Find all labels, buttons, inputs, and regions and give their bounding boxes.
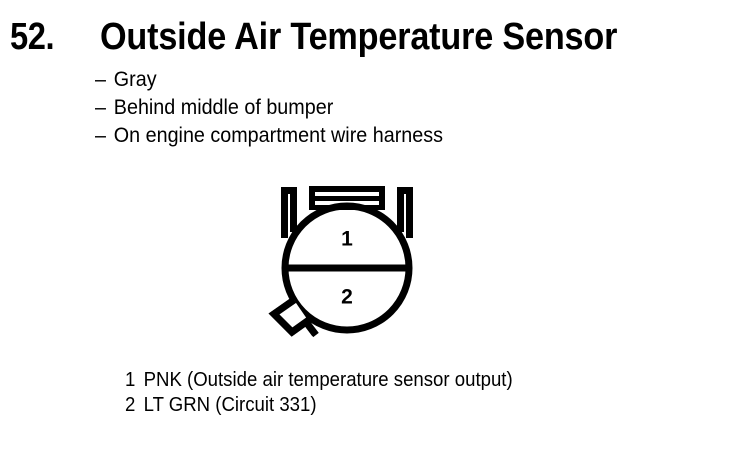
- page-title: Outside Air Temperature Sensor: [100, 14, 617, 60]
- connector-diagram: 1 2: [252, 172, 442, 347]
- legend-pin-number: 1: [125, 368, 144, 393]
- description-item: –On engine compartment wire harness: [95, 122, 659, 150]
- legend-row: 2LT GRN (Circuit 331): [125, 393, 683, 418]
- page-header: 52. Outside Air Temperature Sensor: [0, 14, 752, 60]
- bullet-dash-icon: –: [95, 94, 114, 122]
- description-item-label: On engine compartment wire harness: [114, 124, 443, 147]
- legend-row: 1PNK (Outside air temperature sensor out…: [125, 368, 683, 393]
- legend-pin-description: LT GRN (Circuit 331): [144, 394, 317, 416]
- page-canvas: 52. Outside Air Temperature Sensor –Gray…: [0, 0, 752, 464]
- connector-illustration: 1 2: [252, 172, 442, 347]
- description-item: –Gray: [95, 66, 659, 94]
- pin-number-2: 2: [341, 286, 353, 309]
- pin-legend: 1PNK (Outside air temperature sensor out…: [125, 368, 725, 418]
- legend-pin-number: 2: [125, 393, 144, 418]
- bullet-dash-icon: –: [95, 122, 114, 150]
- pin-number-1: 1: [341, 228, 353, 251]
- legend-pin-description: PNK (Outside air temperature sensor outp…: [144, 369, 513, 391]
- description-item-label: Gray: [114, 68, 157, 91]
- description-item-label: Behind middle of bumper: [114, 96, 333, 119]
- section-number: 52.: [10, 14, 54, 60]
- description-item: –Behind middle of bumper: [95, 94, 659, 122]
- bullet-dash-icon: –: [95, 66, 114, 94]
- description-list: –Gray –Behind middle of bumper –On engin…: [95, 66, 695, 150]
